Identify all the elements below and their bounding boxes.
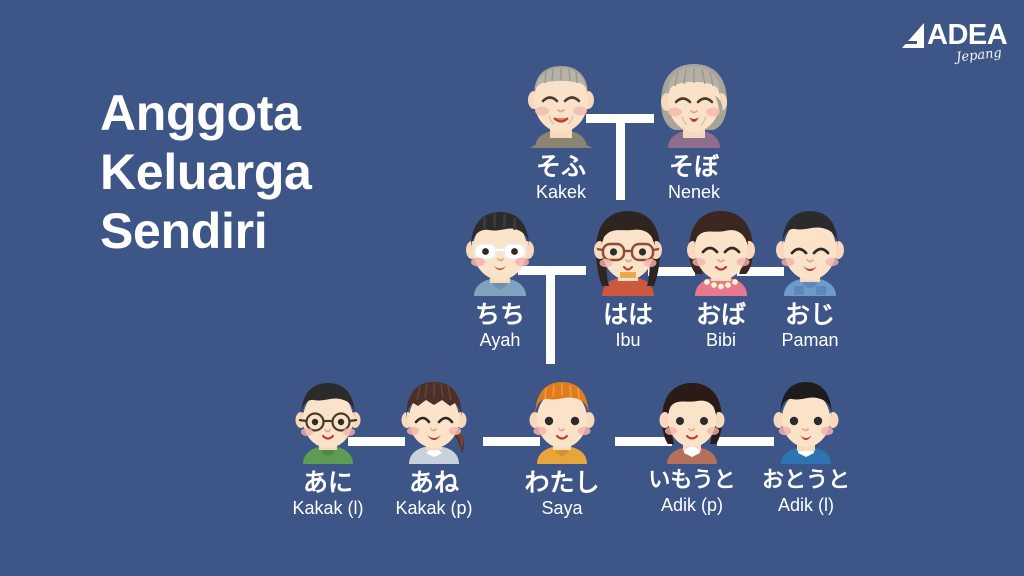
brand-logo: ADEA Jepang bbox=[900, 20, 1008, 66]
older-sister-avatar bbox=[388, 378, 480, 469]
logo-text: ADEA bbox=[927, 22, 1007, 49]
family-member-id-label: Ayah bbox=[452, 330, 548, 351]
family-member-id-label: Kakek bbox=[512, 182, 610, 203]
mother-avatar bbox=[580, 206, 676, 301]
family-member-jp-label: おとうと bbox=[750, 469, 862, 494]
self-avatar bbox=[516, 378, 608, 469]
family-member-id-label: Ibu bbox=[580, 330, 676, 351]
family-member-id-label: Kakak (l) bbox=[282, 498, 374, 519]
family-member-jp-label: あに bbox=[282, 469, 374, 497]
family-member-id-label: Nenek bbox=[645, 182, 743, 203]
family-member-haha[interactable]: はは Ibu bbox=[580, 206, 676, 351]
family-member-jp-label: そふ bbox=[512, 153, 610, 181]
family-member-imouto[interactable]: いもうと Adik (p) bbox=[636, 378, 748, 515]
page-title-line-3: Sendiri bbox=[100, 202, 400, 261]
family-member-id-label: Bibi bbox=[676, 330, 766, 351]
family-member-watashi[interactable]: わたし Saya bbox=[516, 378, 608, 519]
page-title-line-1: Anggota bbox=[100, 84, 400, 143]
family-member-jp-label: あね bbox=[388, 469, 480, 497]
logo-a-mark-icon bbox=[900, 22, 926, 49]
family-member-jp-label: はは bbox=[580, 301, 676, 329]
family-member-id-label: Paman bbox=[765, 330, 855, 351]
family-member-id-label: Saya bbox=[516, 498, 608, 519]
younger-sister-avatar bbox=[636, 378, 748, 469]
younger-brother-avatar bbox=[750, 378, 862, 469]
family-member-sobo[interactable]: そぼ Nenek bbox=[645, 56, 743, 203]
father-avatar bbox=[452, 206, 548, 301]
uncle-avatar bbox=[765, 206, 855, 301]
older-brother-avatar bbox=[282, 378, 374, 469]
logo-wordmark: ADEA bbox=[900, 20, 1008, 50]
family-member-jp-label: ちち bbox=[452, 301, 548, 329]
family-member-ani[interactable]: あに Kakak (l) bbox=[282, 378, 374, 519]
family-member-sofu[interactable]: そふ Kakek bbox=[512, 56, 610, 203]
grandmother-avatar bbox=[645, 56, 743, 153]
family-member-jp-label: おじ bbox=[765, 301, 855, 329]
family-member-chichi[interactable]: ちち Ayah bbox=[452, 206, 548, 351]
family-member-id-label: Adik (p) bbox=[636, 495, 748, 516]
family-member-id-label: Kakak (p) bbox=[388, 498, 480, 519]
family-member-id-label: Adik (l) bbox=[750, 495, 862, 516]
connector-grandparents-stem bbox=[616, 114, 625, 200]
aunt-avatar bbox=[676, 206, 766, 301]
page-title-line-2: Keluarga bbox=[100, 143, 400, 202]
family-member-oba[interactable]: おば Bibi bbox=[676, 206, 766, 351]
family-member-otouto[interactable]: おとうと Adik (l) bbox=[750, 378, 862, 515]
family-member-jp-label: おば bbox=[676, 301, 766, 329]
page-title: Anggota Keluarga Sendiri bbox=[100, 84, 400, 261]
family-member-oji[interactable]: おじ Paman bbox=[765, 206, 855, 351]
family-member-jp-label: いもうと bbox=[636, 469, 748, 494]
slide-canvas: ADEA Jepang Anggota Keluarga Sendiri bbox=[0, 0, 1024, 576]
family-member-jp-label: そぼ bbox=[645, 153, 743, 181]
family-member-jp-label: わたし bbox=[516, 469, 608, 497]
family-member-ane[interactable]: あね Kakak (p) bbox=[388, 378, 480, 519]
grandfather-avatar bbox=[512, 56, 610, 153]
